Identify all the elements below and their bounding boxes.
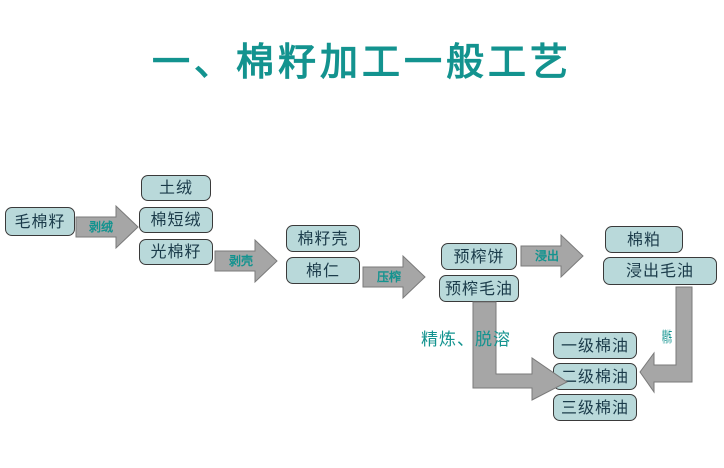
label-refining-desolventizing: 精炼、脱溶 [421, 332, 511, 349]
node-raw-seed[interactable]: 毛棉籽 [5, 207, 75, 236]
arrow-refining-desolventizing [470, 302, 570, 400]
node-short-lint[interactable]: 棉短绒 [139, 207, 213, 233]
node-soil-lint[interactable]: 土绒 [141, 175, 211, 201]
arrow-label-extraction: 浸出 [535, 250, 559, 262]
node-kernel[interactable]: 棉仁 [286, 257, 360, 284]
node-prepress-crude-oil[interactable]: 预榨毛油 [439, 275, 519, 302]
page-title: 一、棉籽加工一般工艺 [0, 38, 724, 86]
arrow-label-delinting: 剥绒 [89, 221, 113, 233]
node-prepress-cake[interactable]: 预榨饼 [441, 243, 517, 270]
slide-canvas: 一、棉籽加工一般工艺 剥绒 毛棉籽 土绒 棉短绒 光棉籽 剥壳 棉籽壳 棉仁 压… [0, 0, 724, 468]
node-extracted-crude-oil[interactable]: 浸出毛油 [603, 257, 717, 285]
label-refining-right: 精炼 [662, 330, 672, 345]
node-cotton-meal[interactable]: 棉粕 [605, 226, 683, 253]
node-clean-seed[interactable]: 光棉籽 [139, 239, 213, 265]
arrow-label-pressing: 压榨 [377, 271, 401, 283]
node-seed-hull[interactable]: 棉籽壳 [286, 225, 360, 252]
arrow-label-dehulling: 剥壳 [229, 255, 253, 267]
